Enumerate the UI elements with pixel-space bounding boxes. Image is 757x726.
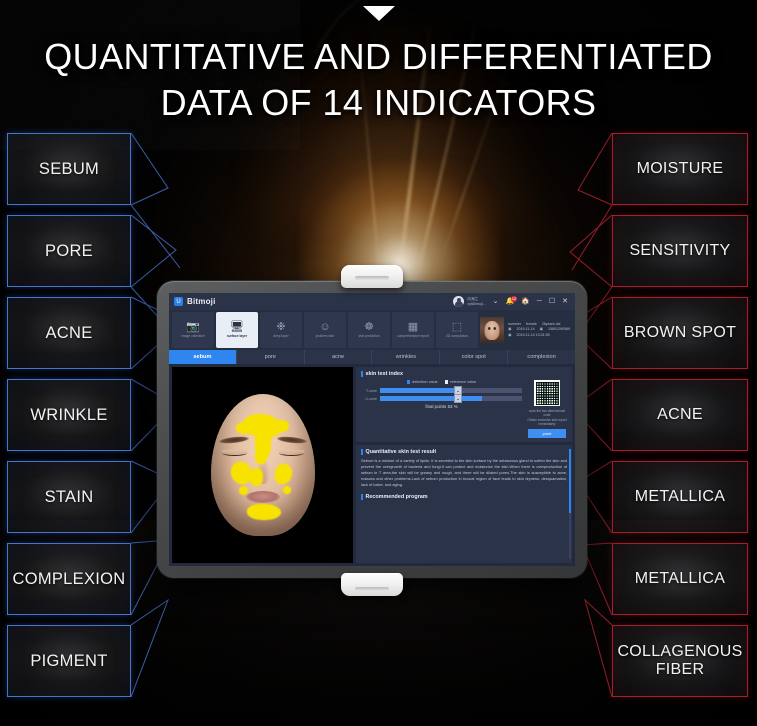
legend-reference: reference value <box>445 380 477 384</box>
module-label: deep layer <box>273 335 288 339</box>
indicator-chip-right-2[interactable]: BROWN SPOT <box>612 297 748 369</box>
molecule-icon: ❉ <box>276 322 285 333</box>
slider-label: U-zone <box>361 397 377 401</box>
face-image <box>203 390 323 540</box>
legend-detection: detection value <box>407 380 438 384</box>
qr-note-1: scan the two-dimensional code <box>527 409 567 418</box>
indicator-chip-left-1[interactable]: PORE <box>7 215 131 287</box>
qr-note-3: immediately <box>527 422 567 426</box>
clock-icon: ▣ <box>508 333 511 339</box>
app-name: Bitmoji <box>187 297 216 306</box>
chevron-down-icon[interactable]: ⌄ <box>493 298 499 305</box>
skin-test-index-card: skin test index detection value referenc… <box>356 367 572 442</box>
score-text: final points 53 % <box>361 404 522 409</box>
slider-t-zone[interactable]: T-zone <box>361 388 522 393</box>
slider-track[interactable] <box>380 396 522 401</box>
module-surface-layer[interactable]: 🖥 surface layer <box>216 312 258 348</box>
module-label: comprehensive report <box>397 335 429 339</box>
chip-label: SEBUM <box>39 160 99 178</box>
indicator-chip-left-3[interactable]: WRINKLE <box>7 379 131 451</box>
qr-block: scan the two-dimensional code Obtain exc… <box>527 380 567 438</box>
indicator-chip-right-1[interactable]: SENSITIVITY <box>612 215 748 287</box>
module-label: skin prediction <box>358 335 379 339</box>
module-label: problem skin <box>316 335 335 339</box>
face-sebum-heatmap[interactable] <box>172 367 353 563</box>
stand-top <box>341 265 403 288</box>
chip-label: SENSITIVITY <box>629 242 730 260</box>
module-skin-prediction[interactable]: ☸ skin prediction <box>348 312 390 348</box>
indicator-chip-right-6[interactable]: COLLAGENOUS FIBER <box>612 625 748 697</box>
poster-stage: QUANTITATIVE AND DIFFERENTIATED DATA OF … <box>0 0 757 726</box>
tab-sebum[interactable]: sebum <box>169 350 237 364</box>
home-icon[interactable]: 🏠 <box>521 298 530 305</box>
patient-photo <box>480 317 504 343</box>
quantitative-result-card: Quantitative skin test result Sebum is a… <box>356 445 572 563</box>
slider-label: T-zone <box>361 389 377 393</box>
app-titlebar: U Bitmoji 向海兰 xy68/moji... ⌄ 🔔12 🏠 ─ ☐ <box>169 293 575 310</box>
stand-bottom <box>341 573 403 596</box>
camera-icon: 📷 <box>186 322 200 333</box>
module-label: surface layer <box>227 335 247 339</box>
tab-complexion[interactable]: complexion <box>508 350 575 364</box>
tablet-screen: U Bitmoji 向海兰 xy68/moji... ⌄ 🔔12 🏠 ─ ☐ <box>169 293 575 566</box>
tab-acne[interactable]: acne <box>305 350 373 364</box>
scrollbar[interactable] <box>569 449 571 559</box>
bell-badge: 12 <box>511 296 517 302</box>
chip-label: METALLICA <box>635 488 725 506</box>
indicator-chip-left-4[interactable]: STAIN <box>7 461 131 533</box>
module-image-collection[interactable]: 📷 image collection <box>172 312 214 348</box>
chip-label: STAIN <box>45 488 94 506</box>
title-line-1: QUANTITATIVE AND DIFFERENTIATED <box>44 36 712 77</box>
close-icon[interactable]: ✕ <box>562 298 568 305</box>
module-3d-comparison[interactable]: ⬚ 3D comparison <box>436 312 478 348</box>
tablet-device: U Bitmoji 向海兰 xy68/moji... ⌄ 🔔12 🏠 ─ ☐ <box>157 281 587 578</box>
qr-code-icon <box>534 380 560 406</box>
bell-icon[interactable]: 🔔12 <box>505 298 514 305</box>
tab-color-spot[interactable]: color spot <box>440 350 508 364</box>
shield-icon: U <box>174 297 183 306</box>
indicator-chip-left-0[interactable]: SEBUM <box>7 133 131 205</box>
patient-time: 2019-11-14 13:31:55 <box>516 333 549 339</box>
chip-label: ACNE <box>657 406 703 424</box>
indicator-chip-right-0[interactable]: MOISTURE <box>612 133 748 205</box>
chip-label: ACNE <box>45 324 92 342</box>
chip-label: WRINKLE <box>30 406 107 424</box>
compare-3d-icon: ⬚ <box>452 322 462 333</box>
module-label: image collection <box>181 335 205 339</box>
slider-track[interactable] <box>380 388 522 393</box>
result-card-title: Quantitative skin test result <box>366 449 437 455</box>
module-deep-layer[interactable]: ❉ deep layer <box>260 312 302 348</box>
chip-label: BROWN SPOT <box>624 324 736 342</box>
tab-wrinkles[interactable]: wrinkles <box>372 350 440 364</box>
slider-knob[interactable] <box>454 394 462 403</box>
monitor-wave-icon: 🖥 <box>230 322 244 333</box>
titlebar-user[interactable]: 向海兰 xy68/moji... <box>453 296 485 307</box>
chip-label: COLLAGENOUS FIBER <box>617 643 743 679</box>
app-body: skin test index detection value referenc… <box>169 364 575 566</box>
page-title: QUANTITATIVE AND DIFFERENTIATED DATA OF … <box>0 34 757 125</box>
tab-pore[interactable]: pore <box>237 350 305 364</box>
patient-profile[interactable]: summer female 26years old ▣ 2019-11-14 ▣… <box>480 312 572 348</box>
result-body-text: Sebum is a mixture of a variety of lipid… <box>361 458 567 487</box>
face-icon: ☺ <box>319 322 330 333</box>
indicator-chip-right-4[interactable]: METALLICA <box>612 461 748 533</box>
module-label: 3D comparison <box>446 335 468 339</box>
indicator-chip-right-5[interactable]: METALLICA <box>612 543 748 615</box>
report-icon: ▦ <box>408 322 418 333</box>
chip-label: MOISTURE <box>637 160 724 178</box>
patient-id: 15891290569 <box>548 327 570 333</box>
indicator-chip-left-2[interactable]: ACNE <box>7 297 131 369</box>
index-card-title: skin test index <box>366 371 403 377</box>
chip-label: PIGMENT <box>30 652 107 670</box>
indicator-chip-left-6[interactable]: PIGMENT <box>7 625 131 697</box>
user-name-line2: xy68/moji... <box>467 302 485 307</box>
index-legend: detection value reference value <box>361 380 522 384</box>
minimize-icon[interactable]: ─ <box>537 298 542 305</box>
maximize-icon[interactable]: ☐ <box>549 298 555 305</box>
indicator-chip-right-3[interactable]: ACNE <box>612 379 748 451</box>
avatar <box>453 296 464 307</box>
data-pane: skin test index detection value referenc… <box>356 367 572 563</box>
right-indicator-column: MOISTURE SENSITIVITY BROWN SPOT ACNE MET… <box>612 133 748 707</box>
chip-label: PORE <box>45 242 93 260</box>
analysis-tabs: sebum pore acne wrinkles color spot comp… <box>169 350 575 364</box>
recommended-program-title: Recommended program <box>366 494 428 500</box>
indicator-chip-left-5[interactable]: COMPLEXION <box>7 543 131 615</box>
chip-label: COMPLEXION <box>12 570 125 588</box>
person-chart-icon: ☸ <box>364 322 374 333</box>
left-indicator-column: SEBUM PORE ACNE WRINKLE STAIN COMPLEXION… <box>7 133 131 707</box>
slider-u-zone[interactable]: U-zone <box>361 396 522 401</box>
chip-label: METALLICA <box>635 570 725 588</box>
point-button[interactable]: point <box>528 429 566 438</box>
module-problem-skin[interactable]: ☺ problem skin <box>304 312 346 348</box>
module-toolbar: 📷 image collection 🖥 surface layer ❉ dee… <box>169 310 575 350</box>
title-line-2: DATA OF 14 INDICATORS <box>0 80 757 126</box>
module-comprehensive-report[interactable]: ▦ comprehensive report <box>392 312 434 348</box>
